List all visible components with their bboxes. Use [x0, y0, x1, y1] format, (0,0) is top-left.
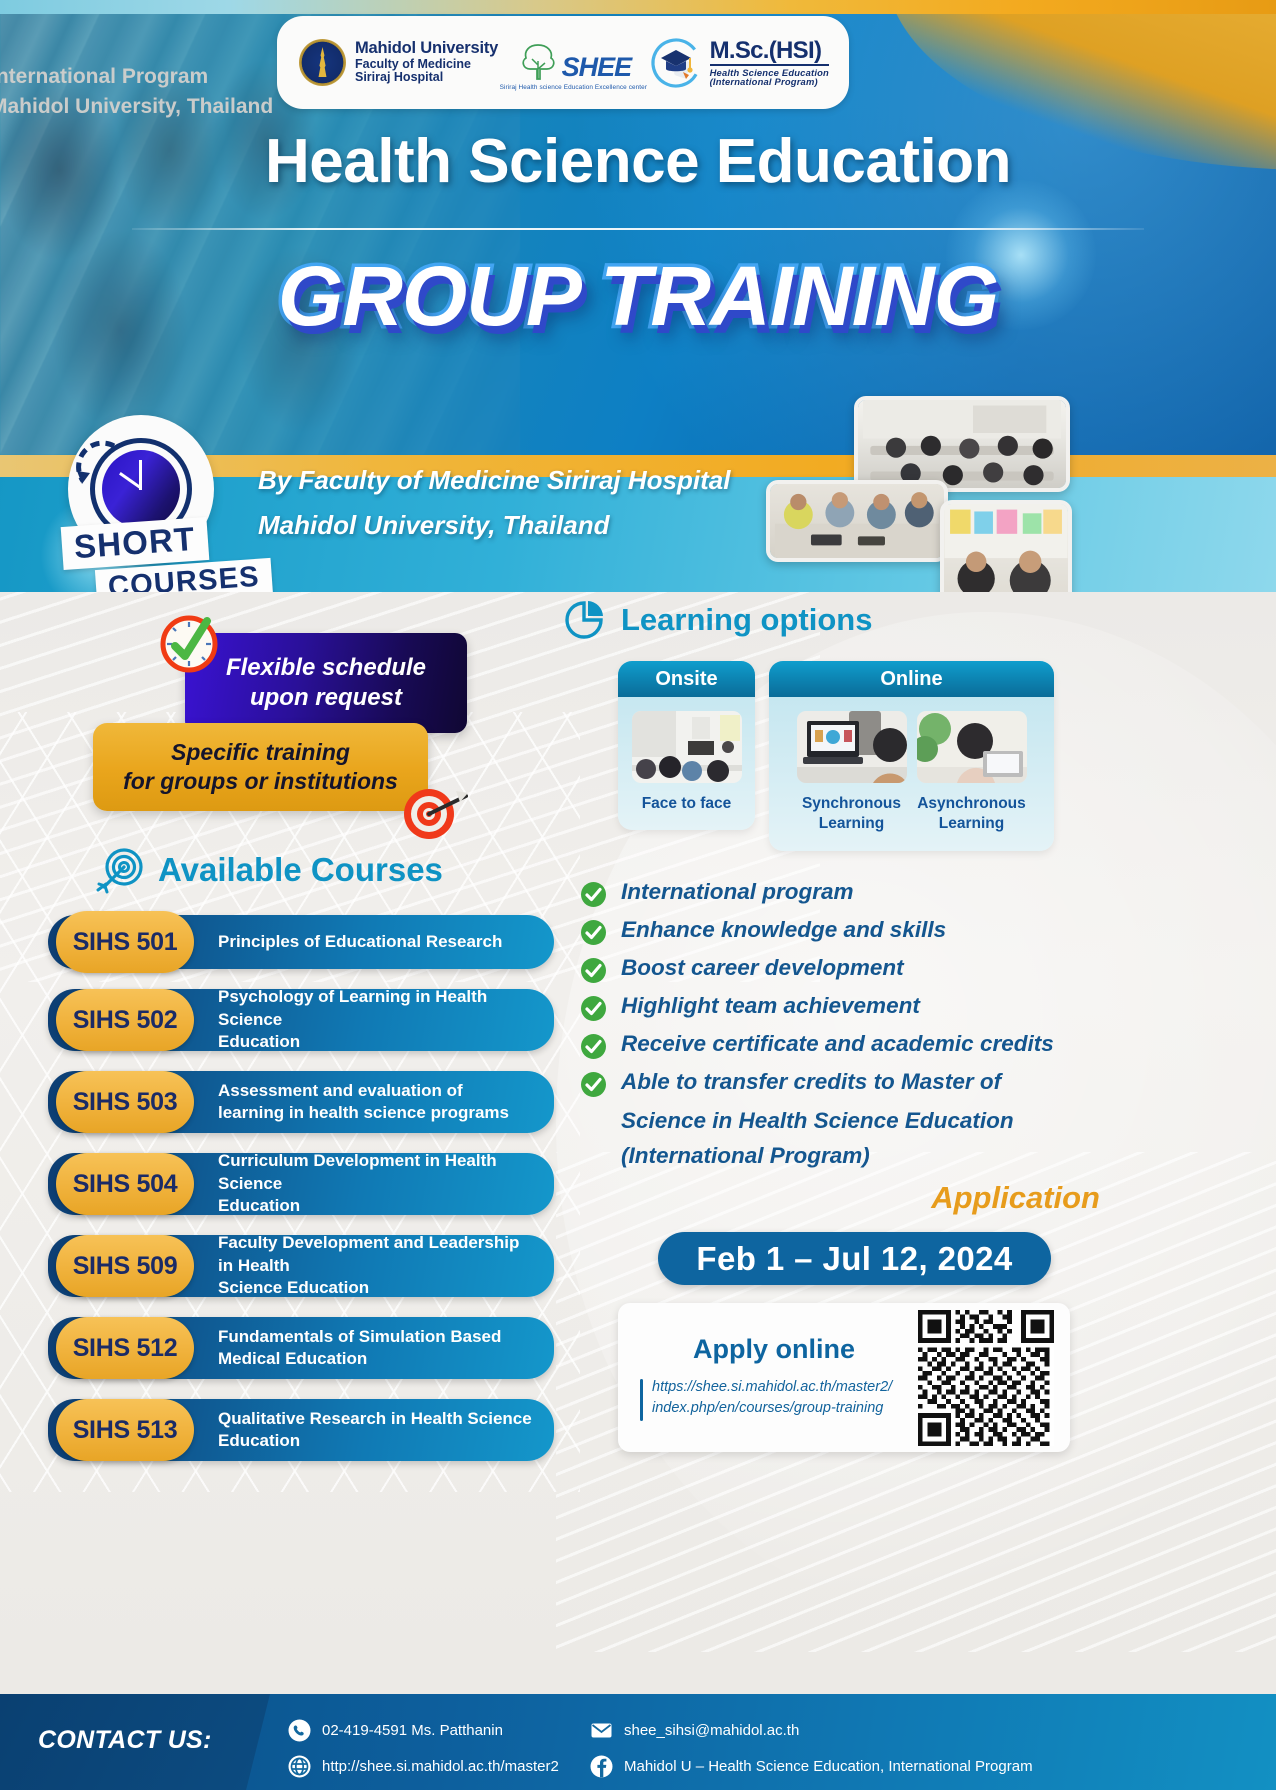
footer-phone: 02-419-4591 Ms. Patthanin: [322, 1722, 503, 1739]
shee-logo: SHEE Siriraj Health science Education Ex…: [500, 35, 647, 91]
check-circle-icon: [580, 957, 607, 984]
available-courses-title: Available Courses: [158, 851, 443, 889]
thumb-asynchronous: [917, 711, 1027, 783]
msc-logo: M.Sc.(HSI) Health Science Education (Int…: [649, 36, 829, 90]
learning-label-synchronous-l1: Synchronous: [802, 795, 901, 812]
learning-item-synchronous: Synchronous Learning: [797, 711, 907, 835]
chip-specific-training: Specific training for groups or institut…: [93, 723, 428, 811]
watermark-text: International Program Mahidol University…: [0, 62, 370, 123]
course-code: SIHS 502: [56, 989, 194, 1051]
application-period: Feb 1 – Jul 12, 2024: [658, 1232, 1051, 1285]
learning-label-asynchronous-l1: Asynchronous: [917, 795, 1026, 812]
msc-divider: [710, 64, 829, 66]
learning-item-asynchronous: Asynchronous Learning: [917, 711, 1027, 835]
benefit-text: Enhance knowledge and skills: [621, 916, 946, 943]
apply-url-l1: https://shee.si.mahidol.ac.th/master2/: [652, 1379, 892, 1395]
msc-line2: (International Program): [710, 77, 829, 87]
title-divider: [132, 228, 1144, 230]
byline-line2: Mahidol University, Thailand: [258, 503, 858, 548]
course-row[interactable]: SIHS 512 Fundamentals of Simulation Base…: [48, 1317, 554, 1379]
benefit-text: Able to transfer credits to Master of: [621, 1068, 1001, 1095]
learning-card-online: Online: [769, 661, 1054, 851]
phone-icon: [288, 1719, 311, 1742]
benefit-text: Boost career development: [621, 954, 904, 981]
course-code: SIHS 513: [56, 1399, 194, 1461]
clock-check-icon: [158, 613, 220, 675]
thumb-synchronous: [797, 711, 907, 783]
watermark-line2: Mahidol University, Thailand: [0, 92, 370, 122]
apply-url-l2: index.php/en/courses/group-training: [652, 1400, 883, 1416]
learning-card-onsite-title: Onsite: [618, 661, 755, 697]
envelope-icon: [590, 1719, 613, 1742]
mahidol-hospital: Siriraj Hospital: [355, 71, 498, 85]
benefit-item: Highlight team achievement: [580, 992, 1100, 1022]
contact-us-label: CONTACT US:: [38, 1726, 212, 1755]
course-name-l2: learning in health science programs: [218, 1103, 509, 1122]
apply-accent-bar: [640, 1379, 643, 1421]
chip-specific-line1: Specific training: [123, 738, 398, 767]
pie-chart-icon: [563, 598, 607, 642]
thumb-onsite-classroom: [632, 711, 742, 783]
facebook-icon: [590, 1755, 613, 1778]
footer-website-row[interactable]: http://shee.si.mahidol.ac.th/master2: [288, 1755, 559, 1778]
chip-flexible-line1: Flexible schedule: [226, 653, 426, 683]
benefit-item: International program: [580, 878, 1100, 908]
course-name-l2: Science Education: [218, 1278, 369, 1297]
thumb-classroom: [854, 396, 1070, 492]
tree-icon: [516, 39, 560, 83]
course-row[interactable]: SIHS 509 Faculty Development and Leaders…: [48, 1235, 554, 1297]
benefit-text: Receive certificate and academic credits: [621, 1030, 1054, 1057]
course-name-l2: Education: [218, 1431, 300, 1450]
benefit-item: Able to transfer credits to Master of: [580, 1068, 1100, 1098]
apply-online-title: Apply online: [640, 1334, 908, 1365]
footer-email-row[interactable]: shee_sihsi@mahidol.ac.th: [590, 1719, 1033, 1742]
benefit-item: Enhance knowledge and skills: [580, 916, 1100, 946]
course-row[interactable]: SIHS 503 Assessment and evaluation of le…: [48, 1071, 554, 1133]
footer-phone-row[interactable]: 02-419-4591 Ms. Patthanin: [288, 1719, 559, 1742]
learning-item-face-to-face: Face to face: [632, 711, 742, 814]
refresh-arrow-icon: [74, 437, 124, 497]
qr-code-icon[interactable]: [918, 1310, 1054, 1446]
course-name-l1: Qualitative Research in Health Science: [218, 1409, 532, 1428]
byline: By Faculty of Medicine Siriraj Hospital …: [258, 458, 858, 547]
check-circle-icon: [580, 881, 607, 908]
msc-title: M.Sc.(HSI): [710, 38, 829, 63]
target-arrow-icon: [400, 783, 468, 843]
footer-facebook: Mahidol U – Health Science Education, In…: [624, 1758, 1033, 1775]
target-spiral-icon: [96, 845, 146, 895]
apply-url[interactable]: https://shee.si.mahidol.ac.th/master2/ i…: [652, 1377, 892, 1419]
benefit-item: Boost career development: [580, 954, 1100, 984]
course-code: SIHS 503: [56, 1071, 194, 1133]
learning-label-synchronous-l2: Learning: [819, 815, 884, 832]
benefit-wrap-line1: Science in Health Science Education: [621, 1104, 1100, 1139]
poster: Mahidol University Faculty of Medicine S…: [0, 0, 1276, 1790]
course-row[interactable]: SIHS 501 Principles of Educational Resea…: [48, 915, 554, 969]
byline-line1: By Faculty of Medicine Siriraj Hospital: [258, 458, 858, 503]
available-courses-header: Available Courses: [96, 845, 443, 895]
poster-title: Health Science Education: [0, 126, 1276, 197]
learning-label-face-to-face: Face to face: [632, 794, 742, 814]
mahidol-faculty: Faculty of Medicine: [355, 58, 498, 72]
course-code: SIHS 512: [56, 1317, 194, 1379]
benefit-text: International program: [621, 878, 854, 905]
shee-wordmark: SHEE: [562, 52, 632, 83]
benefits-list: International program Enhance knowledge …: [580, 878, 1100, 1174]
course-name-l2: Education: [218, 1032, 300, 1051]
course-name-l1: Psychology of Learning in Health Science: [218, 987, 487, 1028]
check-circle-icon: [580, 1033, 607, 1060]
benefit-item: Receive certificate and academic credits: [580, 1030, 1100, 1060]
benefit-text: Highlight team achievement: [621, 992, 920, 1019]
course-code: SIHS 509: [56, 1235, 194, 1297]
application-label: Application: [0, 1180, 1100, 1216]
course-code: SIHS 501: [56, 911, 194, 973]
check-circle-icon: [580, 919, 607, 946]
hero-top-stripe: [0, 0, 1276, 14]
course-name-l1: Principles of Educational Research: [218, 932, 502, 951]
course-name-l1: Fundamentals of Simulation Based: [218, 1327, 501, 1346]
mahidol-name: Mahidol University: [355, 40, 498, 58]
chip-specific-line2: for groups or institutions: [123, 767, 398, 796]
learning-options-title: Learning options: [621, 602, 872, 638]
learning-card-onsite: Onsite: [618, 661, 755, 830]
watermark-line1: International Program: [0, 62, 370, 92]
graduation-cap-icon: [649, 36, 703, 90]
footer-email: shee_sihsi@mahidol.ac.th: [624, 1722, 799, 1739]
course-name-l1: Assessment and evaluation of: [218, 1081, 463, 1100]
learning-options-header: Learning options: [563, 598, 872, 642]
chip-flexible-schedule: Flexible schedule upon request: [185, 633, 467, 733]
footer-column-right: shee_sihsi@mahidol.ac.th Mahidol U – Hea…: [590, 1719, 1033, 1790]
course-name-l2: Medical Education: [218, 1349, 367, 1368]
footer-website: http://shee.si.mahidol.ac.th/master2: [322, 1758, 559, 1775]
apply-online-card: Apply online https://shee.si.mahidol.ac.…: [618, 1303, 1070, 1452]
check-circle-icon: [580, 1071, 607, 1098]
course-name-l1: Faculty Development and Leadership in He…: [218, 1233, 519, 1274]
shee-subtitle: Siriraj Health science Education Excelle…: [500, 84, 647, 91]
globe-icon: [288, 1755, 311, 1778]
learning-options-cards: Onsite: [618, 661, 1054, 851]
benefit-wrap-line2: (International Program): [621, 1139, 1100, 1174]
course-row[interactable]: SIHS 513 Qualitative Research in Health …: [48, 1399, 554, 1461]
check-circle-icon: [580, 995, 607, 1022]
footer-column-left: 02-419-4591 Ms. Patthanin http://shee.si…: [288, 1719, 559, 1790]
learning-card-online-title: Online: [769, 661, 1054, 697]
poster-subtitle: GROUP TRAINING: [0, 248, 1276, 345]
learning-label-asynchronous-l2: Learning: [939, 815, 1004, 832]
course-row[interactable]: SIHS 502 Psychology of Learning in Healt…: [48, 989, 554, 1051]
footer-facebook-row[interactable]: Mahidol U – Health Science Education, In…: [590, 1755, 1033, 1778]
chip-flexible-line2: upon request: [226, 683, 426, 713]
